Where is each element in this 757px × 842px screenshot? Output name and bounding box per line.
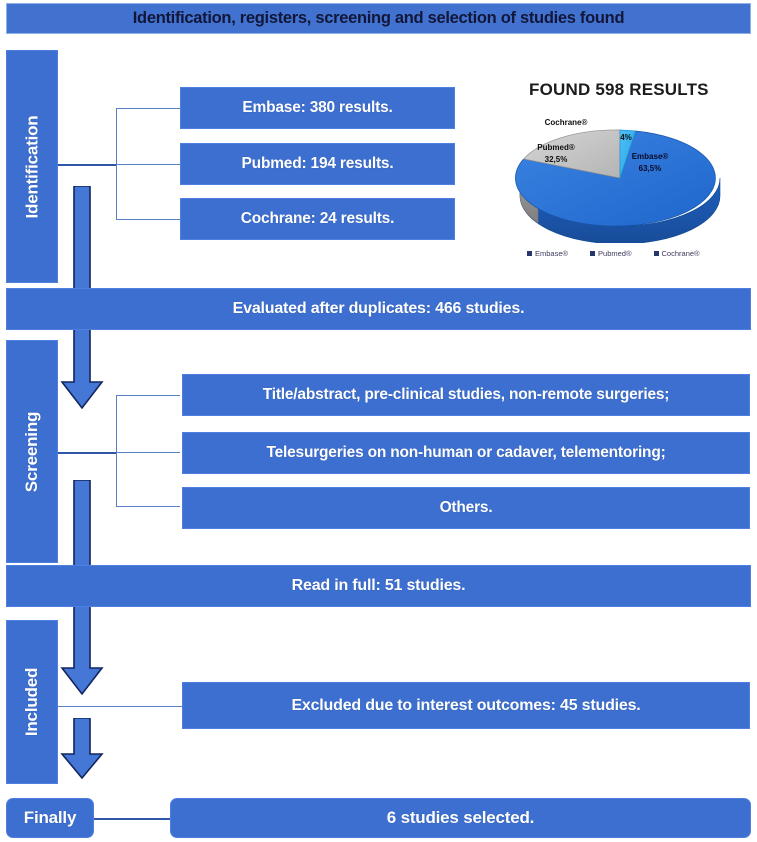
legend-swatch-cochrane <box>654 251 659 256</box>
legend-item-embase: Embase® <box>527 249 568 258</box>
source-box-pubmed-label: Pubmed: 194 results. <box>242 155 394 172</box>
read-in-full-bar: Read in full: 51 studies. <box>6 565 751 607</box>
connector-screening-bracket <box>116 395 180 507</box>
connector-vertical <box>116 395 117 507</box>
stage-label-screening-text: Screening <box>22 411 42 491</box>
stage-label-finally: Finally <box>6 798 94 838</box>
legend-swatch-pubmed <box>590 251 595 256</box>
pie-value-pubmed: 32,5% <box>528 155 584 164</box>
source-box-embase: Embase: 380 results. <box>180 87 455 129</box>
excluded-box-label: Excluded due to interest outcomes: 45 st… <box>291 697 640 715</box>
page-title: Identification, registers, screening and… <box>133 9 625 27</box>
prisma-flow-diagram: Identification, registers, screening and… <box>0 0 757 842</box>
source-box-cochrane-label: Cochrane: 24 results. <box>241 210 394 227</box>
pie-label-embase: Embase® <box>620 152 680 161</box>
pie-chart-legend: Embase® Pubmed® Cochrane® <box>527 249 700 258</box>
screening-exclusion-box-3: Others. <box>182 487 750 529</box>
connector-branch-2 <box>116 452 180 453</box>
duplicates-bar: Evaluated after duplicates: 466 studies. <box>6 288 751 330</box>
pie-label-cochrane-name: Cochrane® <box>545 118 588 127</box>
final-result-box: 6 studies selected. <box>170 798 751 838</box>
excluded-box: Excluded due to interest outcomes: 45 st… <box>182 682 750 729</box>
connector-branch-3 <box>116 506 180 507</box>
source-box-cochrane: Cochrane: 24 results. <box>180 198 455 240</box>
connector-identification-stem <box>58 164 116 166</box>
screening-exclusion-box-1: Title/abstract, pre-clinical studies, no… <box>182 374 750 416</box>
connector-screening-stem <box>58 452 116 454</box>
stage-label-included-text: Included <box>22 668 42 736</box>
screening-exclusion-label-1: Title/abstract, pre-clinical studies, no… <box>263 386 670 403</box>
legend-item-pubmed: Pubmed® <box>590 249 631 258</box>
stage-label-identification-text: Identification <box>22 115 42 218</box>
flow-arrow-included-to-finally <box>60 718 106 780</box>
legend-label-embase: Embase® <box>535 249 568 258</box>
arrow-shape <box>62 718 102 778</box>
stage-label-screening: Screening <box>6 340 58 563</box>
read-in-full-label: Read in full: 51 studies. <box>292 577 466 595</box>
pie-value-cochrane: 4% <box>612 133 640 142</box>
pie-label-pubmed: Pubmed® <box>528 143 584 152</box>
pie-label-cochrane: Cochrane® <box>536 118 596 127</box>
legend-item-cochrane: Cochrane® <box>654 249 700 258</box>
source-box-embase-label: Embase: 380 results. <box>242 99 392 116</box>
final-result-label: 6 studies selected. <box>387 809 534 828</box>
pie-label-pubmed-name: Pubmed® <box>537 143 574 152</box>
pie-value-embase: 63,5% <box>620 164 680 173</box>
legend-label-pubmed: Pubmed® <box>598 249 631 258</box>
duplicates-bar-label: Evaluated after duplicates: 466 studies. <box>233 300 525 318</box>
stage-label-identification: Identification <box>6 50 58 283</box>
stage-label-finally-text: Finally <box>24 809 76 828</box>
connector-branch-2 <box>116 164 180 165</box>
connector-branch-3 <box>116 219 180 220</box>
stage-label-included: Included <box>6 620 58 784</box>
pie-chart-title: FOUND 598 RESULTS <box>529 80 709 100</box>
connector-branch-1 <box>116 108 180 109</box>
legend-label-cochrane: Cochrane® <box>662 249 700 258</box>
pie-chart <box>500 108 745 243</box>
screening-exclusion-label-3: Others. <box>440 499 493 516</box>
connector-identification-bracket <box>116 108 180 220</box>
screening-exclusion-label-2: Telesurgeries on non-human or cadaver, t… <box>266 444 665 461</box>
legend-swatch-embase <box>527 251 532 256</box>
connector-branch-1 <box>116 395 180 396</box>
screening-exclusion-box-2: Telesurgeries on non-human or cadaver, t… <box>182 432 750 474</box>
diagram-title-banner: Identification, registers, screening and… <box>6 3 751 34</box>
connector-included-stem <box>58 706 182 707</box>
connector-finally-stem <box>94 818 170 820</box>
pie-label-embase-name: Embase® <box>632 152 669 161</box>
source-box-pubmed: Pubmed: 194 results. <box>180 143 455 185</box>
